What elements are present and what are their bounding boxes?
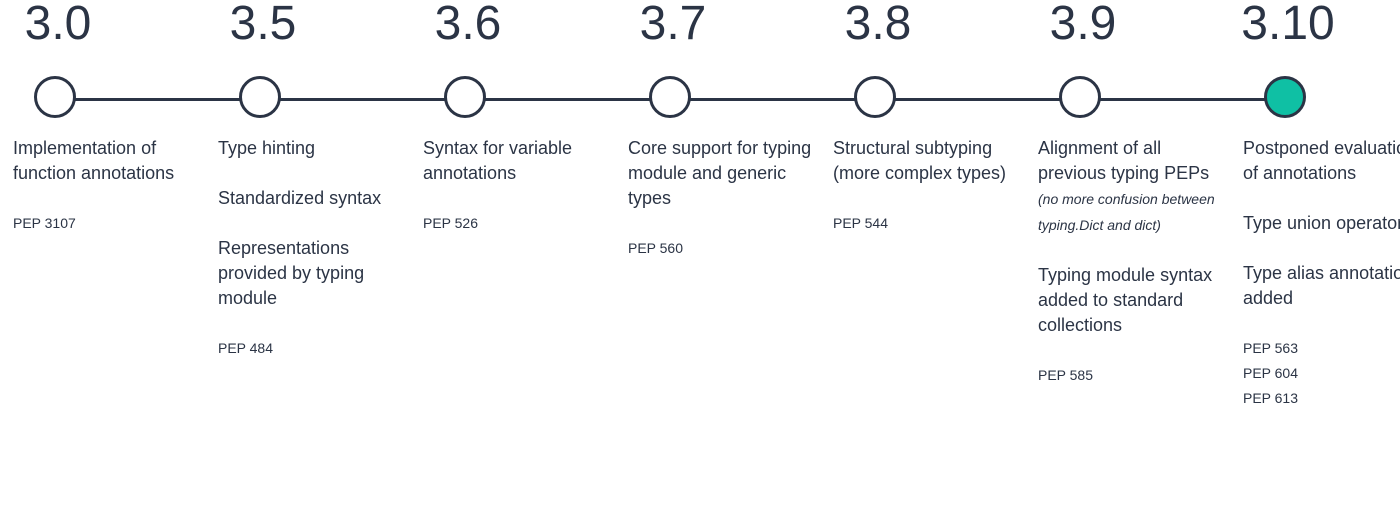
statement-text: Standardized syntax — [218, 188, 381, 208]
milestone-body: Postponed evaluation of annotations Type… — [1243, 136, 1400, 411]
pep-reference: PEP 563 — [1243, 336, 1400, 361]
statement-note: (no more confusion between typing.Dict a… — [1038, 191, 1215, 233]
version-label: 3.7 — [615, 0, 731, 52]
timeline-node-circle[interactable] — [854, 76, 896, 118]
version-label: 3.9 — [1025, 0, 1141, 52]
pep-list: PEP 526 — [423, 211, 609, 236]
timeline-node-circle[interactable] — [34, 76, 76, 118]
statement-text: Type hinting — [218, 138, 315, 158]
pep-reference: PEP 526 — [423, 211, 609, 236]
version-label: 3.6 — [410, 0, 526, 52]
milestone-statement: Type alias annotation added — [1243, 261, 1400, 311]
statement-text: Core support for typing module and gener… — [628, 138, 811, 208]
milestone-statement: Type union operator — [1243, 211, 1400, 236]
pep-list: PEP 3107 — [13, 211, 199, 236]
pep-list: PEP 544 — [833, 211, 1019, 236]
milestone-body: Structural subtyping (more complex types… — [833, 136, 1019, 236]
milestone-statement: Representations provided by typing modul… — [218, 236, 404, 311]
milestone-body: Alignment of all previous typing PEPs (n… — [1038, 136, 1224, 388]
pep-list: PEP 560 — [628, 236, 814, 261]
timeline-diagram: 3.0 Implementation of function annotatio… — [0, 0, 1400, 506]
timeline-node-circle[interactable] — [444, 76, 486, 118]
statement-text: Alignment of all previous typing PEPs — [1038, 138, 1209, 183]
statement-text: Implementation of function annotations — [13, 138, 174, 183]
milestone-statement: Alignment of all previous typing PEPs (n… — [1038, 136, 1224, 238]
milestone-statement: Type hinting — [218, 136, 404, 161]
statement-text: Representations provided by typing modul… — [218, 238, 364, 308]
statement-text: Structural subtyping (more complex types… — [833, 138, 1006, 183]
version-label: 3.5 — [205, 0, 321, 52]
milestone-statement: Structural subtyping (more complex types… — [833, 136, 1019, 186]
version-label: 3.0 — [0, 0, 116, 52]
milestone-statement: Postponed evaluation of annotations — [1243, 136, 1400, 186]
milestone-statement: Core support for typing module and gener… — [628, 136, 814, 211]
pep-reference: PEP 585 — [1038, 363, 1224, 388]
pep-reference: PEP 560 — [628, 236, 814, 261]
version-label: 3.8 — [820, 0, 936, 52]
timeline-node-circle[interactable] — [239, 76, 281, 118]
statement-text: Postponed evaluation of annotations — [1243, 138, 1400, 183]
statement-text: Type union operator — [1243, 213, 1400, 233]
pep-reference: PEP 3107 — [13, 211, 199, 236]
statement-text: Typing module syntax added to standard c… — [1038, 265, 1212, 335]
pep-reference: PEP 544 — [833, 211, 1019, 236]
milestone-statement: Syntax for variable annotations — [423, 136, 609, 186]
milestone-statement: Implementation of function annotations — [13, 136, 199, 186]
timeline-columns: 3.0 Implementation of function annotatio… — [0, 0, 1400, 506]
timeline-node-circle[interactable] — [649, 76, 691, 118]
version-label: 3.10 — [1230, 0, 1346, 52]
pep-list: PEP 484 — [218, 336, 404, 361]
pep-reference: PEP 613 — [1243, 386, 1400, 411]
milestone-body: Implementation of function annotations P… — [13, 136, 199, 236]
timeline-node-circle-current[interactable] — [1264, 76, 1306, 118]
milestone-statement: Typing module syntax added to standard c… — [1038, 263, 1224, 338]
pep-reference: PEP 484 — [218, 336, 404, 361]
milestone-statement: Standardized syntax — [218, 186, 404, 211]
statement-text: Type alias annotation added — [1243, 263, 1400, 308]
pep-list: PEP 563 PEP 604 PEP 613 — [1243, 336, 1400, 411]
milestone-body: Syntax for variable annotations PEP 526 — [423, 136, 609, 236]
milestone-body: Core support for typing module and gener… — [628, 136, 814, 261]
pep-reference: PEP 604 — [1243, 361, 1400, 386]
milestone-body: Type hinting Standardized syntax Represe… — [218, 136, 404, 361]
statement-text: Syntax for variable annotations — [423, 138, 572, 183]
timeline-node-circle[interactable] — [1059, 76, 1101, 118]
pep-list: PEP 585 — [1038, 363, 1224, 388]
